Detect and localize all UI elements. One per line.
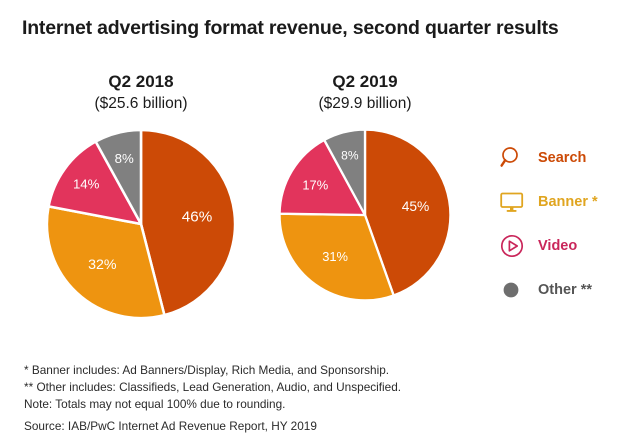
legend-label-search: Search [538,150,586,166]
pie-panel-2019: Q2 2019 ($29.9 billion) 45%31%17%8% [252,72,478,304]
pie-chart-2019: 45%31%17%8% [276,126,454,304]
magnifier-icon [497,143,527,173]
pie-svg-2018: 46%32%14%8% [43,126,239,322]
footnotes: * Banner includes: Ad Banners/Display, R… [24,362,584,413]
panel-heading-2018: Q2 2018 [28,72,254,92]
panel-heading-2019: Q2 2019 [252,72,478,92]
legend-label-video: Video [538,238,577,254]
chart-legend: Search Banner * Video [497,136,598,312]
slice-label-video: 14% [73,177,100,192]
pie-panel-2018: Q2 2018 ($25.6 billion) 46%32%14%8% [28,72,254,322]
legend-item-other[interactable]: Other ** [497,268,598,312]
panel-subheading-2019: ($29.9 billion) [252,94,478,114]
play-circle-icon [497,231,527,261]
footnote-rounding: Note: Totals may not equal 100% due to r… [24,396,584,413]
pie-chart-2018: 46%32%14%8% [43,126,239,322]
legend-label-other: Other ** [538,282,592,298]
pie-slices-2019 [280,130,451,301]
slice-label-video: 17% [302,177,328,192]
pie-svg-2019: 45%31%17%8% [276,126,454,304]
slice-label-other: 8% [115,151,134,166]
legend-item-banner[interactable]: Banner * [497,180,598,224]
panel-subheading-2018: ($25.6 billion) [28,94,254,114]
chart-page: Internet advertising format revenue, sec… [0,0,628,446]
slice-label-banner: 31% [322,249,348,264]
slice-label-other: 8% [341,148,359,162]
legend-item-search[interactable]: Search [497,136,598,180]
slice-label-banner: 32% [88,257,117,273]
legend-label-banner: Banner * [538,194,598,210]
filled-circle-icon [497,275,527,305]
page-title: Internet advertising format revenue, sec… [22,17,559,40]
source-note: Source: IAB/PwC Internet Ad Revenue Repo… [24,419,317,433]
footnote-banner: * Banner includes: Ad Banners/Display, R… [24,362,584,379]
footnote-other: ** Other includes: Classifieds, Lead Gen… [24,379,584,396]
slice-label-search: 46% [182,208,212,225]
slice-label-search: 45% [402,199,430,214]
legend-item-video[interactable]: Video [497,224,598,268]
monitor-icon [497,187,527,217]
